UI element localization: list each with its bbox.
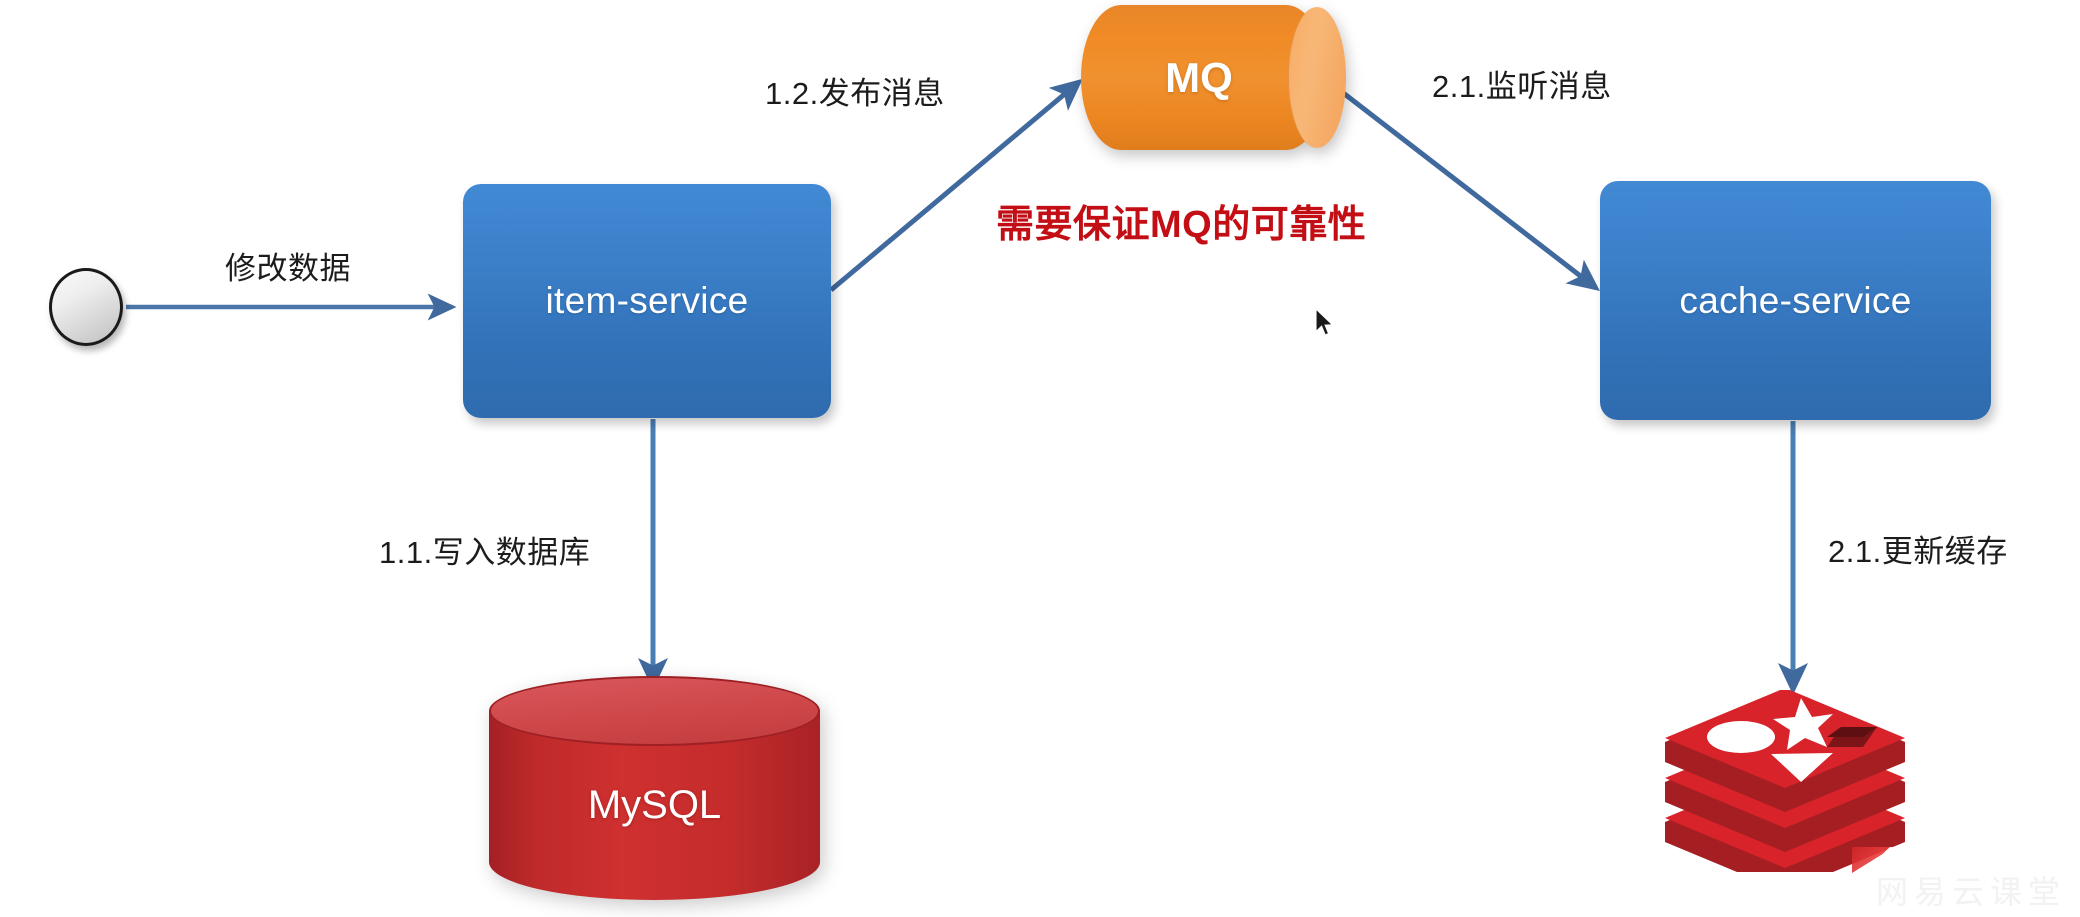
actor-node[interactable]	[49, 268, 123, 346]
node-mysql-label: MySQL	[489, 710, 820, 900]
watermark-text: 网易云课堂	[1876, 867, 2066, 913]
node-mq[interactable]: MQ	[1081, 5, 1346, 150]
node-item-service[interactable]: item-service	[463, 184, 831, 418]
mouse-pointer-icon	[1315, 308, 1337, 340]
edge-label-listen-msg: 2.1.监听消息	[1432, 61, 1612, 106]
edge-label-publish-msg: 1.2.发布消息	[765, 68, 945, 113]
note-mq-reliability: 需要保证MQ的可靠性	[996, 193, 1366, 248]
edge-label-modify-data: 修改数据	[225, 243, 351, 288]
node-cache-service-label: cache-service	[1679, 280, 1911, 322]
diagram-canvas: item-service cache-service MQ MySQL	[0, 0, 2080, 917]
redis-icon[interactable]	[1655, 690, 1915, 872]
node-mq-label: MQ	[1081, 5, 1317, 150]
edge-listen-msg	[1342, 92, 1596, 288]
edge-label-write-db: 1.1.写入数据库	[379, 527, 590, 572]
node-mysql[interactable]: MySQL	[489, 676, 820, 917]
edge-publish-msg	[831, 82, 1079, 290]
edge-label-update-cache: 2.1.更新缓存	[1828, 526, 2008, 571]
node-item-service-label: item-service	[545, 280, 748, 322]
node-cache-service[interactable]: cache-service	[1600, 181, 1991, 420]
